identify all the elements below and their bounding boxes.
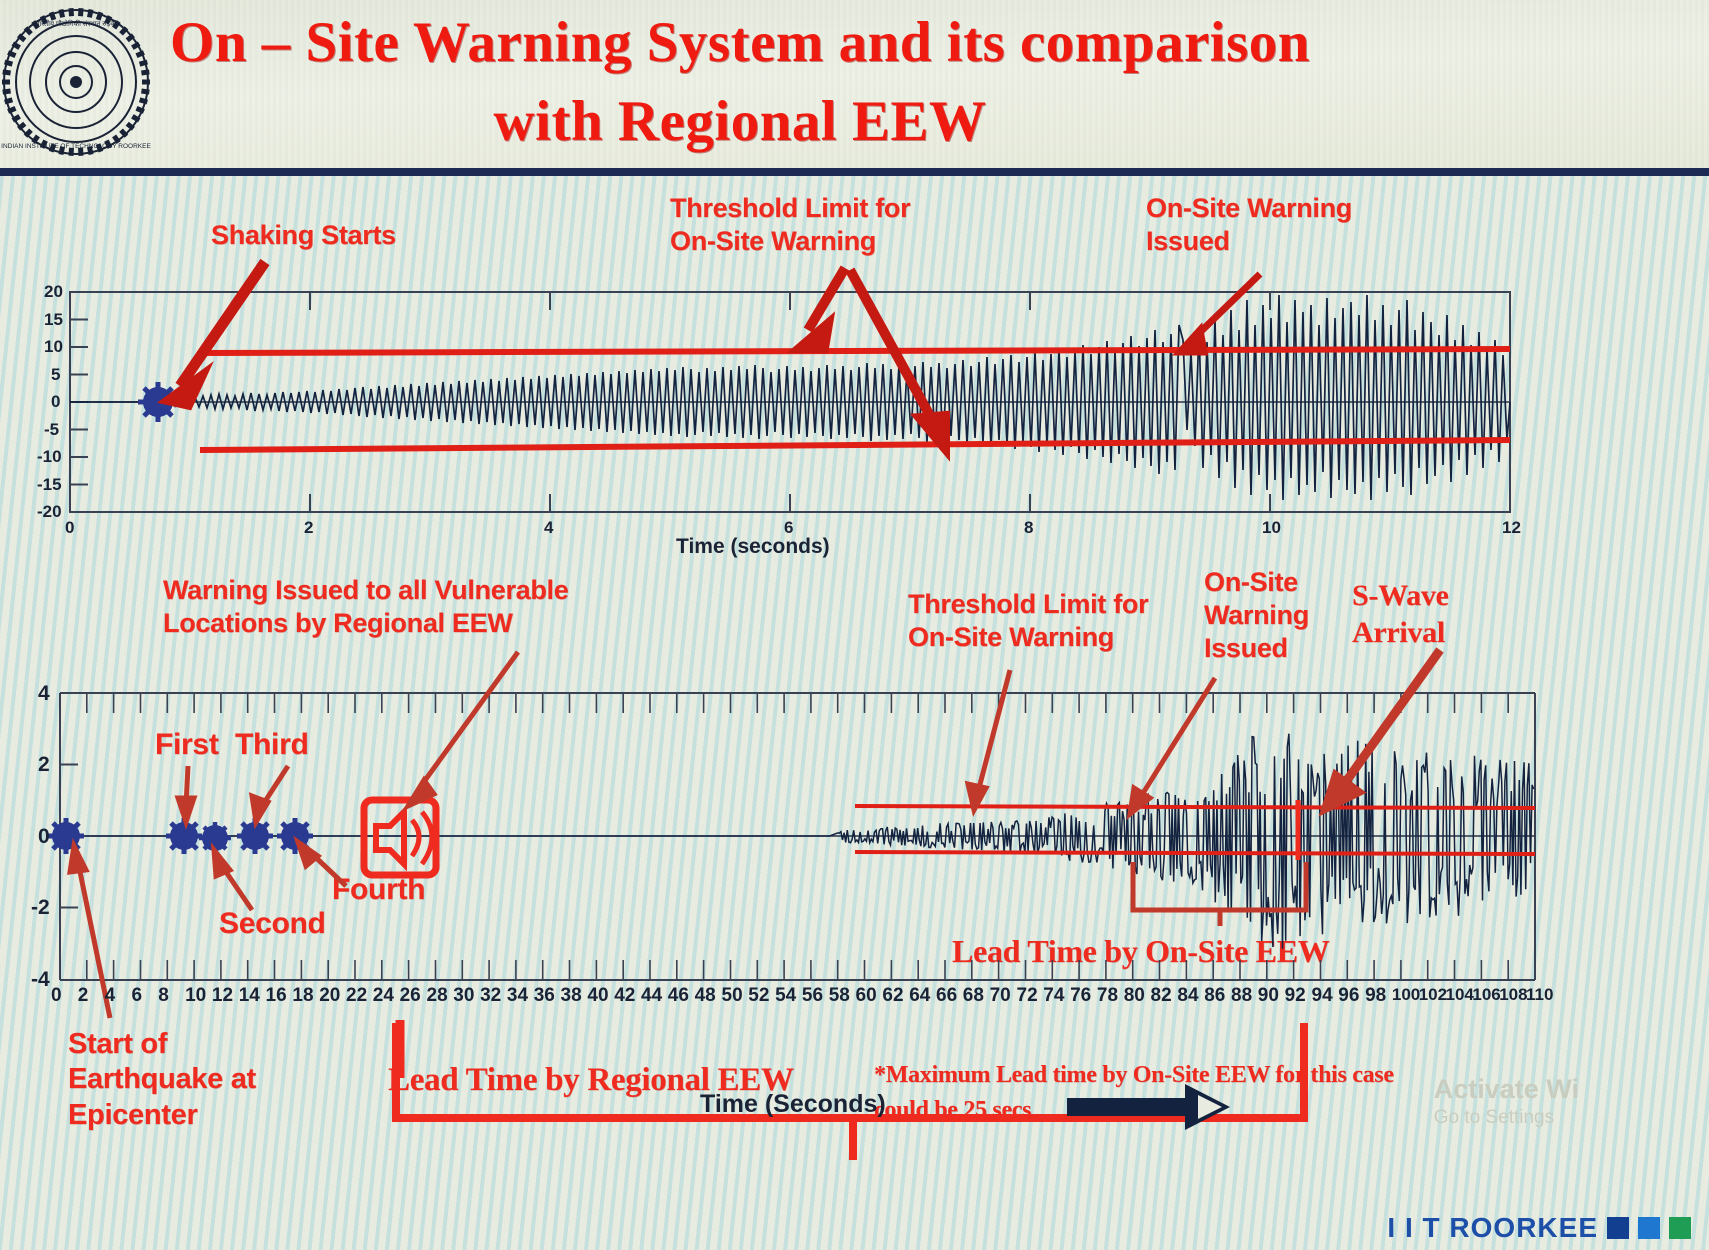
label-second: Second [219,906,326,943]
page-title: On – Site Warning System and its compari… [150,4,1330,161]
btm-xtick-72: 72 [1017,985,1038,1007]
btm-xtick-96: 96 [1338,985,1359,1007]
top-ytick-15: 15 [44,310,63,330]
btm-xtick-10: 10 [185,985,206,1007]
top-ytick-m15: -15 [37,475,62,495]
btm-xtick-62: 62 [882,985,903,1007]
btm-xtick-40: 40 [587,985,608,1007]
btm-xtick-4: 4 [105,985,116,1007]
btm-ytick-m2: -2 [31,896,50,920]
btm-xtick-34: 34 [507,985,528,1007]
watermark-line2: Go to Settings [1434,1106,1579,1130]
btm-ytick-2: 2 [38,753,50,777]
btm-xtick-2: 2 [78,985,89,1007]
footer-brand: I I T ROORKEE [1387,1212,1691,1244]
btm-xtick-82: 82 [1151,985,1172,1007]
annotation-threshold-limit-bottom: Threshold Limit for On-Site Warning [908,588,1148,654]
header-divider [0,168,1709,176]
btm-xtick-60: 60 [856,985,877,1007]
btm-xtick-18: 18 [292,985,313,1007]
annotation-onsite-warning-issued-top: On-Site Warning Issued [1146,192,1352,258]
bracket-label-onsite-lead-time: Lead Time by On-Site EEW [952,932,1329,971]
btm-xtick-102: 102 [1419,985,1447,1005]
btm-xtick-78: 78 [1097,985,1118,1007]
btm-xtick-20: 20 [319,985,340,1007]
btm-ytick-0: 0 [38,825,50,849]
annotation-threshold-limit-top: Threshold Limit for On-Site Warning [670,192,910,258]
btm-xtick-44: 44 [641,985,662,1007]
top-xaxis-label: Time (seconds) [676,535,830,559]
btm-xtick-54: 54 [775,985,796,1007]
btm-xtick-38: 38 [561,985,582,1007]
btm-xtick-22: 22 [346,985,367,1007]
btm-xtick-86: 86 [1204,985,1225,1007]
btm-xtick-64: 64 [909,985,930,1007]
btm-xtick-80: 80 [1124,985,1145,1007]
top-ytick-5: 5 [51,365,60,385]
btm-xtick-48: 48 [695,985,716,1007]
iit-roorkee-seal-icon: भारतीय प्रौद्योगिकी संस्थान रुड़की INDIA… [0,6,152,158]
activate-windows-watermark: Activate Wi Go to Settings [1434,1073,1579,1131]
btm-xtick-6: 6 [132,985,143,1007]
btm-xtick-100: 100 [1392,985,1420,1005]
top-ytick-0: 0 [51,392,60,412]
annotation-onsite-warning-issued-bottom: On-Site Warning Issued [1204,566,1309,665]
top-ytick-m20: -20 [37,502,62,522]
top-ytick-20: 20 [44,282,63,302]
top-xtick-8: 8 [1024,518,1033,538]
btm-xtick-106: 106 [1472,985,1500,1005]
annotation-regional-warning: Warning Issued to all Vulnerable Locatio… [163,574,568,640]
btm-xtick-28: 28 [427,985,448,1007]
btm-ytick-m4: -4 [31,968,50,992]
brand-square-green-icon [1669,1217,1691,1239]
btm-xtick-52: 52 [748,985,769,1007]
btm-xtick-110: 110 [1526,985,1553,1005]
btm-xtick-36: 36 [534,985,555,1007]
bottom-xaxis-label: Time (Seconds) [700,1090,886,1119]
btm-xtick-8: 8 [158,985,169,1007]
btm-xtick-24: 24 [373,985,394,1007]
btm-xtick-74: 74 [1043,985,1064,1007]
top-ytick-m5: -5 [44,420,59,440]
btm-xtick-42: 42 [614,985,635,1007]
btm-xtick-108: 108 [1499,985,1527,1005]
footer-brand-text: I I T ROORKEE [1387,1212,1598,1244]
btm-xtick-32: 32 [480,985,501,1007]
top-xtick-2: 2 [304,518,313,538]
btm-xtick-70: 70 [990,985,1011,1007]
annotation-s-wave-arrival: S-Wave Arrival [1352,578,1449,651]
top-xtick-4: 4 [544,518,553,538]
slide-header: On – Site Warning System and its compari… [0,0,1709,176]
top-xtick-0: 0 [65,518,74,538]
label-fourth: Fourth [332,872,425,909]
top-xtick-10: 10 [1262,518,1281,538]
btm-xtick-46: 46 [668,985,689,1007]
btm-xtick-92: 92 [1285,985,1306,1007]
watermark-line1: Activate Wi [1434,1074,1579,1104]
btm-xtick-26: 26 [400,985,421,1007]
btm-xtick-66: 66 [936,985,957,1007]
btm-xtick-94: 94 [1312,985,1333,1007]
btm-xtick-58: 58 [829,985,850,1007]
btm-xtick-84: 84 [1177,985,1198,1007]
slide-root: On – Site Warning System and its compari… [0,0,1709,1250]
top-ytick-10: 10 [44,337,63,357]
top-ytick-m10: -10 [37,447,62,467]
btm-xtick-0: 0 [51,985,62,1007]
label-first: First [155,727,219,764]
btm-xtick-14: 14 [239,985,260,1007]
top-xtick-12: 12 [1502,518,1521,538]
svg-text:भारतीय प्रौद्योगिकी संस्थान रु: भारतीय प्रौद्योगिकी संस्थान रुड़की [35,19,118,28]
btm-xtick-56: 56 [802,985,823,1007]
brand-square-blue-icon [1638,1217,1660,1239]
btm-xtick-104: 104 [1446,985,1474,1005]
btm-xtick-12: 12 [212,985,233,1007]
btm-xtick-90: 90 [1258,985,1279,1007]
svg-text:INDIAN INSTITUTE OF TECHNOLOGY: INDIAN INSTITUTE OF TECHNOLOGY ROORKEE [1,143,151,150]
btm-xtick-16: 16 [266,985,287,1007]
footnote-max-lead-time: *Maximum Lead time by On-Site EEW for th… [874,1058,1394,1128]
btm-xtick-50: 50 [722,985,743,1007]
btm-ytick-4: 4 [38,682,50,706]
label-start-of-earthquake: Start of Earthquake at Epicenter [68,1027,256,1133]
btm-xtick-88: 88 [1231,985,1252,1007]
btm-xtick-76: 76 [1070,985,1091,1007]
btm-xtick-68: 68 [963,985,984,1007]
label-third: Third [235,727,309,764]
btm-xtick-98: 98 [1365,985,1386,1007]
annotation-shaking-starts: Shaking Starts [211,219,396,252]
btm-xtick-30: 30 [453,985,474,1007]
brand-square-dark-icon [1607,1217,1629,1239]
